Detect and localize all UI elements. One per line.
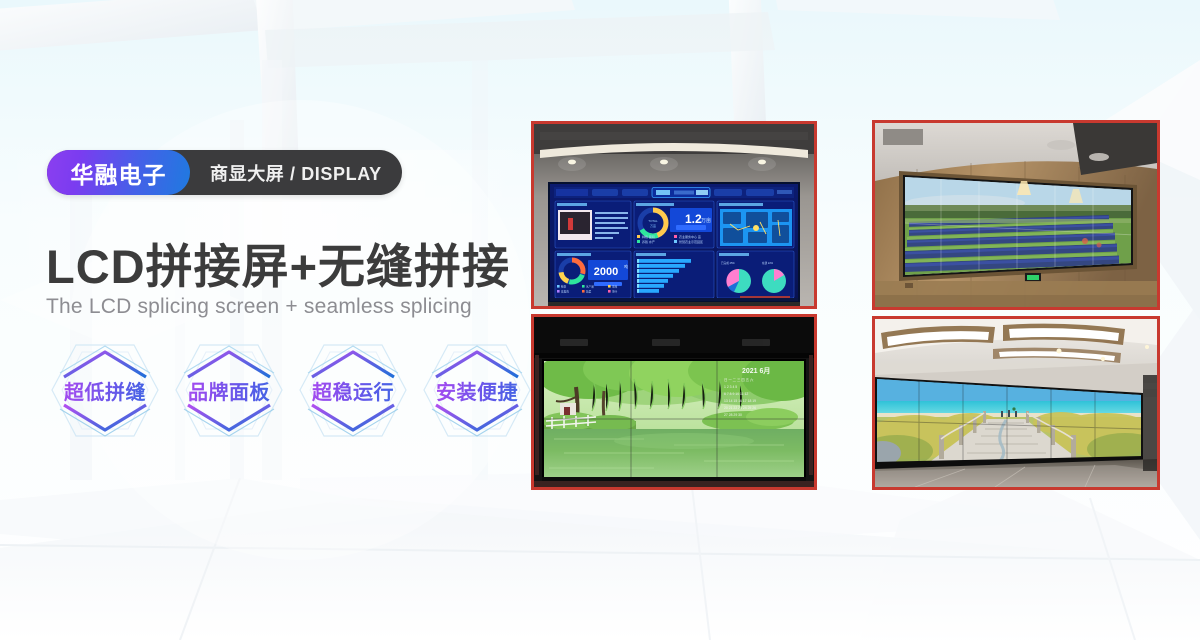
svg-text:农业服务中心 亩: 农业服务中心 亩: [679, 234, 701, 239]
svg-text:6 7 8 9 10 11 12: 6 7 8 9 10 11 12: [724, 392, 748, 396]
svg-text:智慧农业示范园区: 智慧农业示范园区: [679, 239, 703, 244]
dashboard-video-wall-illustration: TOTAL 万亩 1.2 万亩 种植 面积 养殖 水产 农业服务中心 亩 智慧农…: [534, 124, 814, 306]
feature-hexagon-list: 超低拼缝 品牌面板: [46, 333, 536, 448]
svg-text:万亩: 万亩: [701, 217, 711, 224]
feature-label: 品牌面板: [170, 333, 288, 448]
svg-text:万亩: 万亩: [650, 223, 656, 228]
svg-text:TOTAL: TOTAL: [648, 219, 658, 223]
brand-name: 华融电子: [71, 156, 167, 190]
product-photo-solar-farm-video-wall: [872, 120, 1160, 310]
page-title: LCD拼接屏+无缝拼接: [46, 228, 510, 297]
solar-farm-video-wall-illustration: [875, 123, 1157, 307]
feature-label: 安装便捷: [418, 333, 536, 448]
feature-hexagon-1: 超低拼缝: [46, 333, 164, 448]
page-subtitle: The LCD splicing screen + seamless splic…: [46, 295, 472, 319]
feature-hexagon-3: 超稳运行: [294, 333, 412, 448]
svg-text:13 14 15 16 17 18 19: 13 14 15 16 17 18 19: [724, 399, 756, 403]
badge-category-label: 商显大屏 / DISPLAY: [210, 160, 382, 186]
svg-text:在建 22%: 在建 22%: [762, 261, 774, 265]
svg-text:已完成 45%: 已完成 45%: [721, 261, 735, 265]
svg-text:2021 6月: 2021 6月: [742, 367, 770, 375]
svg-text:1.2: 1.2: [685, 212, 702, 226]
svg-text:粮食: 粮食: [561, 285, 567, 289]
svg-text:1 2 3 4 5: 1 2 3 4 5: [724, 385, 737, 389]
svg-text:畜禽肉: 畜禽肉: [561, 290, 569, 294]
feature-label: 超稳运行: [294, 333, 412, 448]
product-photo-dashboard-video-wall: TOTAL 万亩 1.2 万亩 种植 面积 养殖 水产 农业服务中心 亩 智慧农…: [531, 121, 817, 309]
banner-stage: 华融电子 商显大屏 / DISPLAY LCD拼接屏+无缝拼接 The LCD …: [0, 0, 1200, 640]
svg-text:27 28 29 30: 27 28 29 30: [724, 413, 742, 417]
feature-hexagon-2: 品牌面板: [170, 333, 288, 448]
feature-hexagon-4: 安装便捷: [418, 333, 536, 448]
svg-text:茶叶: 茶叶: [612, 290, 618, 294]
brand-pill: 华融电子: [47, 150, 190, 195]
svg-text:果品: 果品: [612, 285, 618, 289]
svg-text:吨: 吨: [624, 263, 628, 269]
product-photo-beach-boardwalk-video-wall: [872, 316, 1160, 490]
beach-boardwalk-video-wall-illustration: [875, 319, 1157, 487]
svg-text:养殖 水产: 养殖 水产: [642, 239, 655, 244]
svg-text:2000: 2000: [594, 266, 618, 278]
garden-lake-video-wall-illustration: 2021 6月 日 一 二 三 四 五 六 1 2 3 4 5 6 7 8 9 …: [534, 317, 814, 487]
feature-label: 超低拼缝: [46, 333, 164, 448]
svg-text:日 一 二 三 四 五 六: 日 一 二 三 四 五 六: [724, 377, 754, 382]
svg-text:水产品: 水产品: [586, 285, 594, 289]
svg-text:20 21 22 23 24 25 26: 20 21 22 23 24 25 26: [724, 406, 756, 410]
brand-badge: 华融电子 商显大屏 / DISPLAY: [47, 150, 402, 195]
product-photo-garden-lake-video-wall: 2021 6月 日 一 二 三 四 五 六 1 2 3 4 5 6 7 8 9 …: [531, 314, 817, 490]
svg-text:蔬菜: 蔬菜: [586, 290, 592, 294]
svg-text:种植 面积: 种植 面积: [642, 234, 655, 239]
